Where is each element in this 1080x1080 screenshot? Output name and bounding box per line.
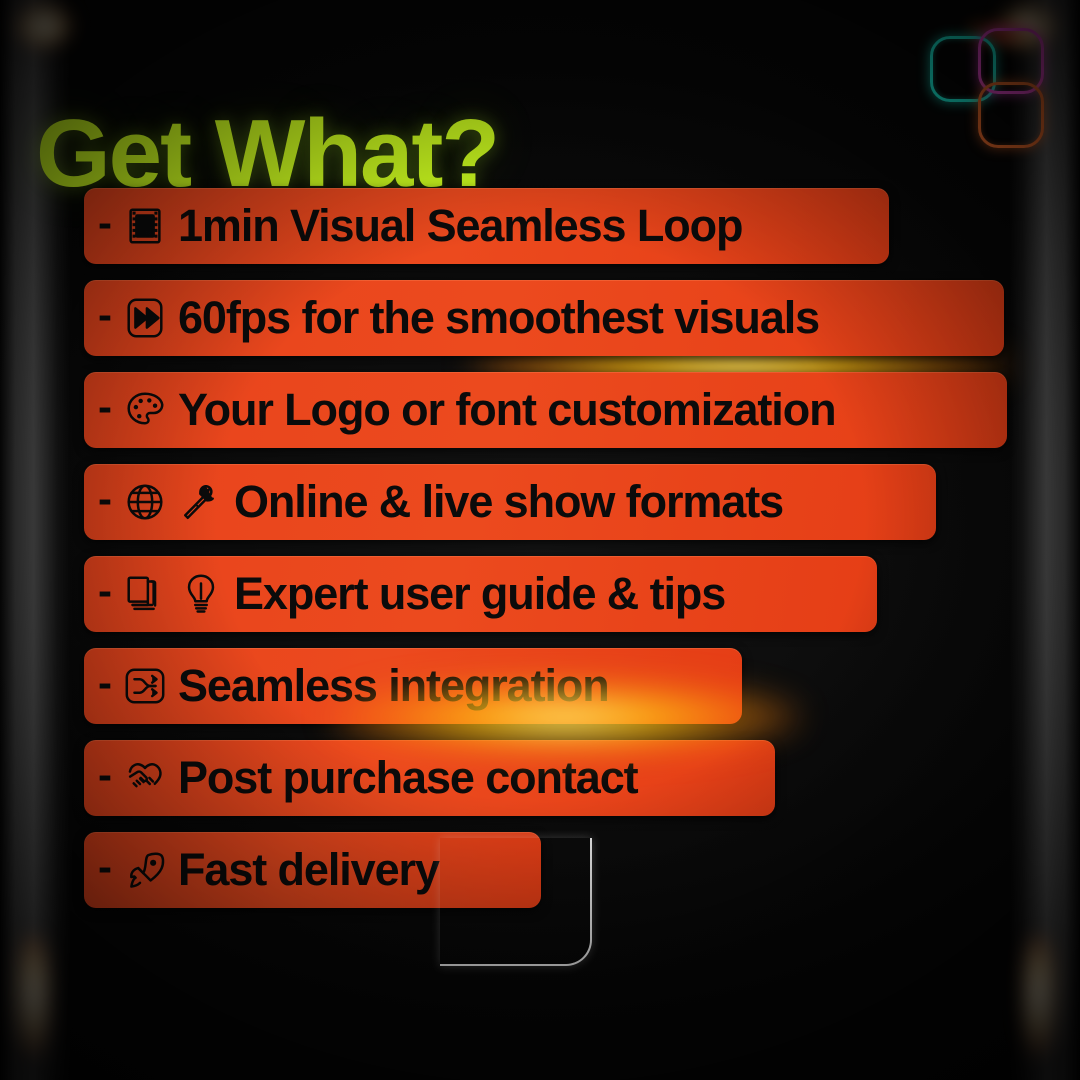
bullet-dash: - bbox=[98, 294, 112, 336]
feature-label: 1min Visual Seamless Loop bbox=[178, 203, 742, 248]
feature-label: Online & live show formats bbox=[234, 479, 783, 524]
feature-label: Your Logo or font customization bbox=[178, 387, 836, 432]
feature-label: Seamless integration bbox=[178, 663, 609, 708]
feature-bar[interactable]: -1min Visual Seamless Loop bbox=[84, 188, 889, 264]
feature-list: -1min Visual Seamless Loop-60fps for the… bbox=[84, 188, 1044, 924]
bullet-dash: - bbox=[98, 478, 112, 520]
shuffle-icon bbox=[122, 663, 168, 709]
globe-icon bbox=[122, 479, 168, 525]
feature-bar[interactable]: -Seamless integration bbox=[84, 648, 742, 724]
palette-icon bbox=[122, 387, 168, 433]
bullet-dash: - bbox=[98, 846, 112, 888]
brand-logo[interactable] bbox=[930, 28, 1058, 154]
ring-orange-icon bbox=[978, 82, 1044, 148]
feature-bar[interactable]: -Expert user guide & tips bbox=[84, 556, 877, 632]
feature-bar[interactable]: -Post purchase contact bbox=[84, 740, 775, 816]
feature-bar[interactable]: -60fps for the smoothest visuals bbox=[84, 280, 1004, 356]
film-strip-icon bbox=[122, 203, 168, 249]
feature-label: Post purchase contact bbox=[178, 755, 638, 800]
pages-icon bbox=[122, 571, 168, 617]
microphone-icon bbox=[178, 479, 224, 525]
handshake-icon bbox=[122, 755, 168, 801]
feature-label: 60fps for the smoothest visuals bbox=[178, 295, 819, 340]
bullet-dash: - bbox=[98, 570, 112, 612]
feature-bar[interactable]: -Fast delivery bbox=[84, 832, 541, 908]
lightbulb-icon bbox=[178, 571, 224, 617]
feature-label: Fast delivery bbox=[178, 847, 439, 892]
rocket-icon bbox=[122, 847, 168, 893]
poster-canvas: Get What? -1min Visual Seamless Loop-60f… bbox=[0, 0, 1080, 1080]
feature-label: Expert user guide & tips bbox=[234, 571, 725, 616]
bullet-dash: - bbox=[98, 662, 112, 704]
fast-forward-icon bbox=[122, 295, 168, 341]
feature-bar[interactable]: -Your Logo or font customization bbox=[84, 372, 1007, 448]
bullet-dash: - bbox=[98, 202, 112, 244]
bullet-dash: - bbox=[98, 386, 112, 428]
bullet-dash: - bbox=[98, 754, 112, 796]
feature-bar[interactable]: -Online & live show formats bbox=[84, 464, 936, 540]
